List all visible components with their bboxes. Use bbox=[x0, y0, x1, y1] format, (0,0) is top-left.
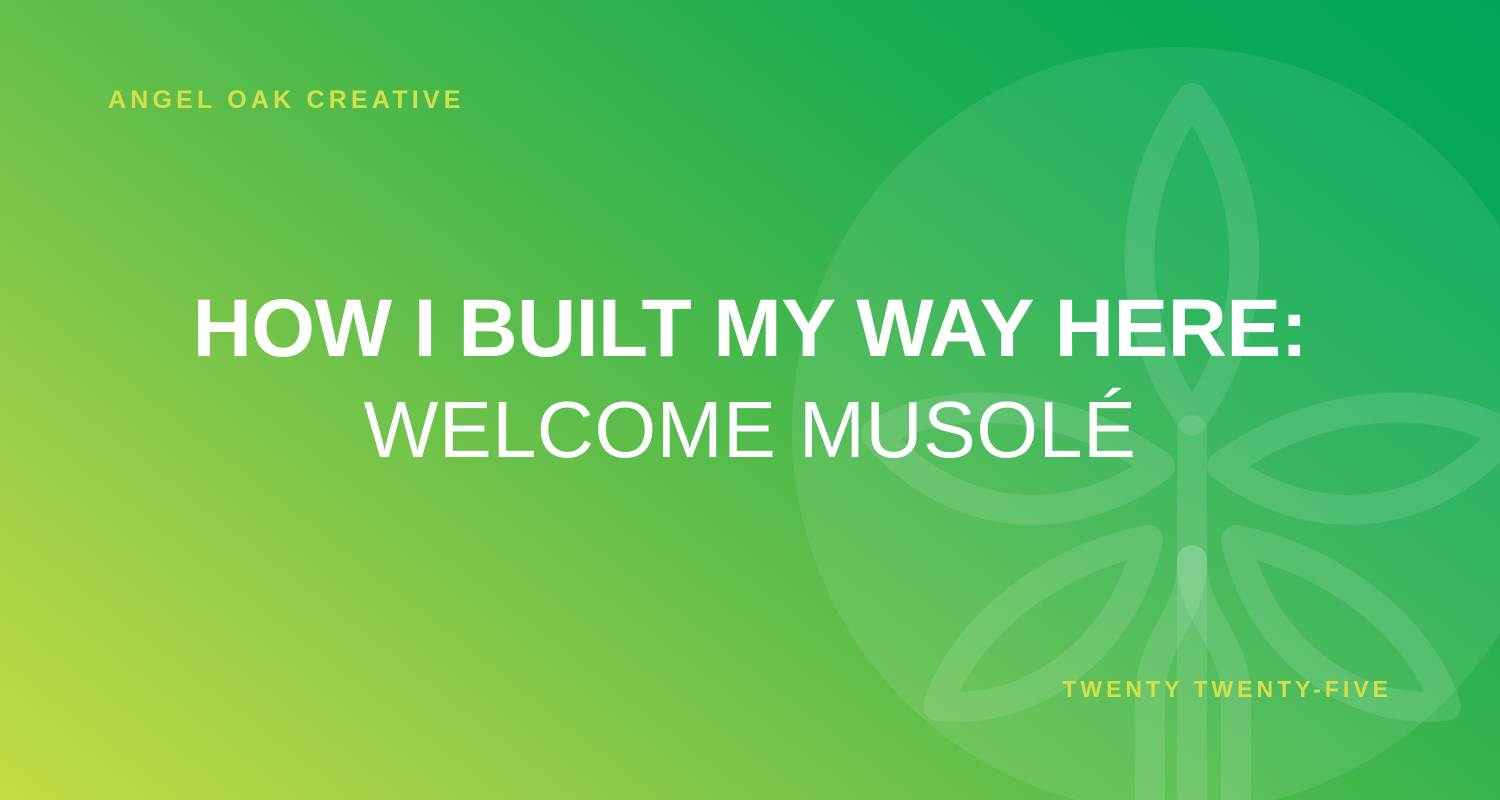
brand-eyebrow: ANGEL OAK CREATIVE bbox=[108, 88, 465, 113]
year-label: TWENTY TWENTY-FIVE bbox=[1062, 678, 1392, 701]
headline-line-2: WELCOME MUSOLÉ bbox=[8, 390, 1493, 470]
headline-line-1: HOW I BUILT MY WAY HERE: bbox=[0, 288, 1500, 370]
page-title: HOW I BUILT MY WAY HERE: WELCOME MUSOLÉ bbox=[0, 288, 1500, 470]
presentation-slide: ANGEL OAK CREATIVE HOW I BUILT MY WAY HE… bbox=[0, 0, 1500, 800]
